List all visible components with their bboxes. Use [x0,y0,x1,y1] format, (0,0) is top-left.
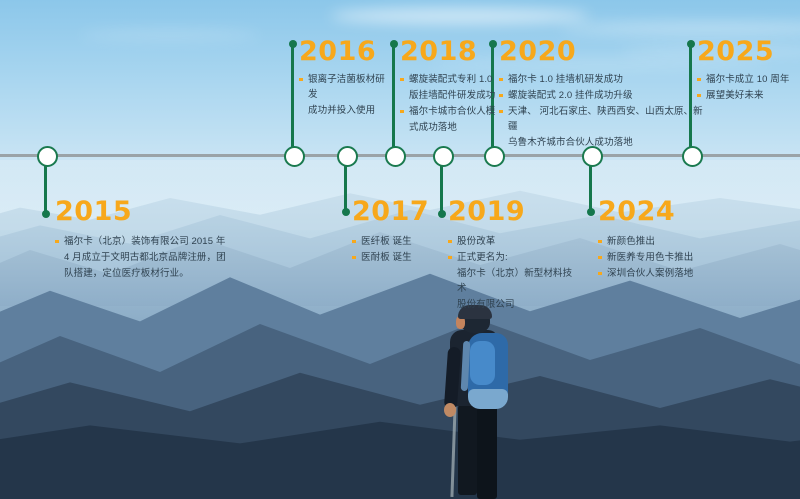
bullet-item-cont: 4 月成立于文明古都北京品牌注册，团 [55,250,245,265]
timeline-entry-2016[interactable]: 2016 银离子洁菌板材研发 成功并投入使用 [299,38,391,119]
stem-2019 [440,162,443,212]
bullet-item: 医纤板 诞生 [352,234,438,249]
bullet-list-2015: 福尔卡（北京）装饰有限公司 2015 年 4 月成立于文明古都北京品牌注册，团 … [55,234,245,281]
bullet-item: 新医养专用色卡推出 [598,250,723,265]
bullet-item-cont: 福尔卡（北京）新型材料技术 [448,266,573,296]
bullet-item-cont: 乌鲁木齐城市合伙人成功落地 [499,135,709,150]
bullet-item: 福尔卡（北京）装饰有限公司 2015 年 [55,234,245,249]
bullet-list-2016: 银离子洁菌板材研发 成功并投入使用 [299,72,391,118]
cloud [330,8,590,24]
timeline-entry-2019[interactable]: 2019 股份改革 正式更名为: 福尔卡（北京）新型材料技术 股份有限公司 [448,198,573,313]
bullet-list-2025: 福尔卡成立 10 周年 展望美好未来 [697,72,795,103]
timeline-node-2016[interactable] [284,146,305,167]
year-label-2017: 2017 [352,198,438,225]
cloud [80,30,260,40]
bullet-item: 正式更名为: [448,250,573,265]
timeline-node-2015[interactable] [37,146,58,167]
bullet-item: 医耐板 诞生 [352,250,438,265]
bullet-item: 螺旋装配式专利 1.0 [400,72,496,87]
bullet-item: 福尔卡 1.0 挂墙机研发成功 [499,72,709,87]
bullet-item: 股份改革 [448,234,573,249]
timeline-entry-2018[interactable]: 2018 螺旋装配式专利 1.0 版挂墙配件研发成功 福尔卡城市合伙人模 式成功… [400,38,496,136]
stem-2016 [291,46,294,148]
bullet-item: 深圳合伙人案例落地 [598,266,723,281]
bullet-list-2020: 福尔卡 1.0 挂墙机研发成功 螺旋装配式 2.0 挂件成功升级 天津、 河北石… [499,72,709,150]
bullet-item: 福尔卡成立 10 周年 [697,72,795,87]
timeline-node-2019[interactable] [433,146,454,167]
hiker-leg [458,403,477,495]
year-label-2018: 2018 [400,38,496,65]
bullet-list-2017: 医纤板 诞生 医耐板 诞生 [352,234,438,265]
timeline-entry-2015[interactable]: 2015 福尔卡（北京）装饰有限公司 2015 年 4 月成立于文明古都北京品牌… [55,198,245,282]
year-label-2020: 2020 [499,38,709,65]
bullet-item-cont: 成功并投入使用 [299,103,391,118]
backpack-bottom [468,389,508,409]
stem-2015 [44,162,47,212]
year-label-2016: 2016 [299,38,391,65]
timeline-infographic: 2016 银离子洁菌板材研发 成功并投入使用 2018 螺旋装配式专利 1.0 … [0,0,800,499]
bullet-list-2024: 新颜色推出 新医养专用色卡推出 深圳合伙人案例落地 [598,234,723,281]
stem-2024 [589,162,592,210]
trekking-pole [450,407,456,497]
timeline-entry-2024[interactable]: 2024 新颜色推出 新医养专用色卡推出 深圳合伙人案例落地 [598,198,723,282]
bullet-item: 银离子洁菌板材研发 [299,72,391,102]
hiker-figure [432,307,542,499]
bullet-item-cont: 版挂墙配件研发成功 [400,88,496,103]
stem-2018 [392,46,395,148]
bullet-item: 天津、 河北石家庄、陕西西安、山西太原、新疆 [499,104,709,134]
timeline-entry-2020[interactable]: 2020 福尔卡 1.0 挂墙机研发成功 螺旋装配式 2.0 挂件成功升级 天津… [499,38,709,151]
bullet-item: 螺旋装配式 2.0 挂件成功升级 [499,88,709,103]
hiker-leg [477,403,497,499]
year-label-2019: 2019 [448,198,573,225]
bullet-item: 福尔卡城市合伙人模 [400,104,496,119]
year-label-2015: 2015 [55,198,245,225]
bullet-list-2018: 螺旋装配式专利 1.0 版挂墙配件研发成功 福尔卡城市合伙人模 式成功落地 [400,72,496,135]
timeline-entry-2017[interactable]: 2017 医纤板 诞生 医耐板 诞生 [352,198,438,266]
bullet-item: 展望美好未来 [697,88,795,103]
bullet-list-2019: 股份改革 正式更名为: 福尔卡（北京）新型材料技术 股份有限公司 [448,234,573,312]
year-label-2024: 2024 [598,198,723,225]
bullet-item-cont: 式成功落地 [400,120,496,135]
mountain-ridge [0,420,800,499]
backpack-panel [470,341,495,385]
timeline-node-2018[interactable] [385,146,406,167]
timeline-entry-2025[interactable]: 2025 福尔卡成立 10 周年 展望美好未来 [697,38,795,104]
bullet-item-cont: 队搭建，定位医疗板材行业。 [55,266,245,281]
hiker-hand [444,403,456,417]
stem-2017 [344,162,347,210]
timeline-node-2017[interactable] [337,146,358,167]
year-label-2025: 2025 [697,38,795,65]
bullet-item: 新颜色推出 [598,234,723,249]
bullet-item-cont: 股份有限公司 [448,297,573,312]
